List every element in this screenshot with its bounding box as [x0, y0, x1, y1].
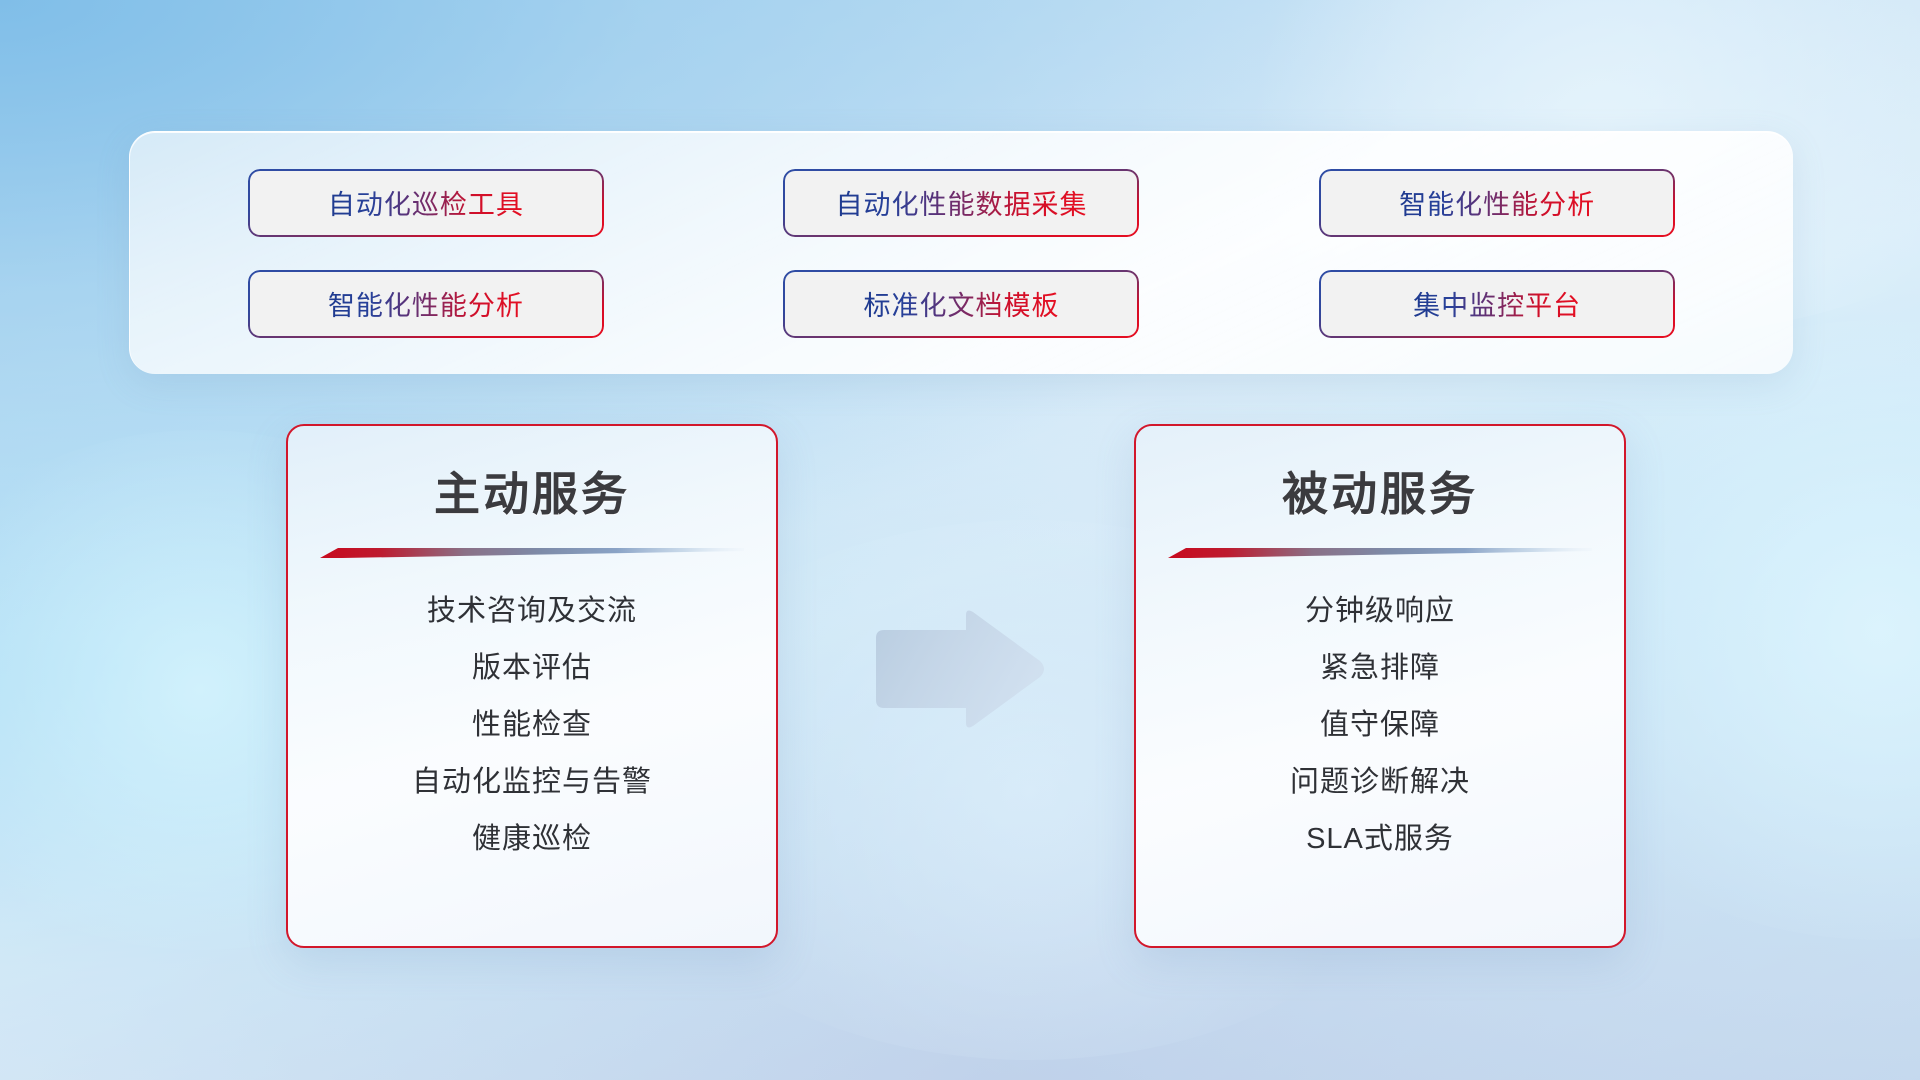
capability-chip-label: 标准化文档模板	[863, 284, 1059, 323]
service-item-list: 分钟级响应 紧急排障 值守保障 问题诊断解决 SLA式服务	[1136, 583, 1624, 868]
list-item: 版本评估	[288, 640, 776, 697]
card-title: 主动服务	[288, 458, 776, 524]
capability-chip[interactable]: 智能化性能分析	[1319, 169, 1675, 237]
diagram-canvas: 自动化巡检工具 自动化性能数据采集 智能化性能分析 智能化性能分析 标准化文档模…	[0, 0, 1920, 1080]
capability-chip[interactable]: 自动化性能数据采集	[783, 169, 1139, 237]
capability-chip-label: 自动化巡检工具	[328, 183, 524, 222]
list-item: 值守保障	[1136, 697, 1624, 754]
card-title: 被动服务	[1136, 458, 1624, 524]
right-arrow-icon	[868, 608, 1048, 730]
capability-chip[interactable]: 集中监控平台	[1319, 270, 1675, 338]
list-item: 问题诊断解决	[1136, 754, 1624, 811]
reactive-service-card: 被动服务 分钟级响应 紧急排障	[1134, 424, 1626, 948]
proactive-service-card: 主动服务 技术咨询及交流 版本评估	[286, 424, 778, 948]
capability-chip[interactable]: 智能化性能分析	[248, 270, 604, 338]
list-item: 紧急排障	[1136, 640, 1624, 697]
capability-chip-label: 智能化性能分析	[1399, 183, 1595, 222]
list-item: 技术咨询及交流	[288, 583, 776, 640]
capability-chip-label: 集中监控平台	[1413, 284, 1581, 323]
service-item-list: 技术咨询及交流 版本评估 性能检查 自动化监控与告警 健康巡检	[288, 583, 776, 868]
title-underline-rule	[1168, 546, 1592, 559]
capability-chip-grid: 自动化巡检工具 自动化性能数据采集 智能化性能分析 智能化性能分析 标准化文档模…	[130, 132, 1793, 374]
list-item: 性能检查	[288, 697, 776, 754]
capability-chip-label: 智能化性能分析	[328, 284, 524, 323]
capability-chip[interactable]: 自动化巡检工具	[248, 169, 604, 237]
list-item: 分钟级响应	[1136, 583, 1624, 640]
capability-chip[interactable]: 标准化文档模板	[783, 270, 1139, 338]
list-item: 自动化监控与告警	[288, 754, 776, 811]
title-underline-rule	[320, 546, 744, 559]
capabilities-panel: 自动化巡检工具 自动化性能数据采集 智能化性能分析 智能化性能分析 标准化文档模…	[129, 131, 1793, 374]
capability-chip-label: 自动化性能数据采集	[835, 183, 1087, 222]
list-item: SLA式服务	[1136, 811, 1624, 868]
list-item: 健康巡检	[288, 811, 776, 868]
